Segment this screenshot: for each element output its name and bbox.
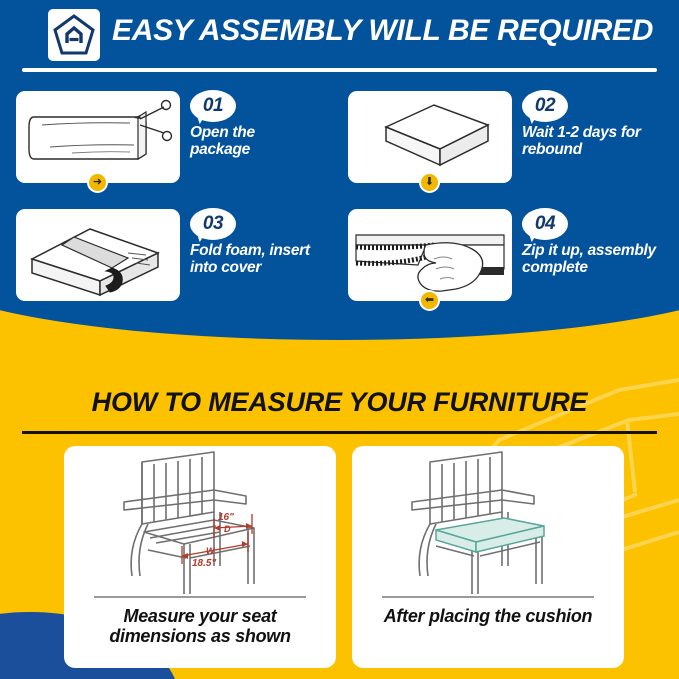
step-02-text: 02 Wait 1-2 days for rebound — [522, 90, 674, 158]
measure-card-dimensions: 16" D W 18.5" Measure your seat dimensio… — [64, 446, 336, 668]
flat-foam-cushion-icon — [348, 91, 512, 183]
rolled-package-with-scissors-icon — [16, 91, 180, 183]
step-number-badge-03: 03 — [190, 208, 236, 242]
step-02-label: Wait 1-2 days for rebound — [522, 125, 674, 158]
dimension-depth-value: 16" — [218, 512, 234, 523]
measure-cards: 16" D W 18.5" Measure your seat dimensio… — [0, 446, 679, 674]
step-card-04: ⬅ 04 Zip it up, assembly complete — [340, 206, 676, 316]
step-04-label: Zip it up, assembly complete — [522, 243, 674, 276]
foam-inserted-into-cover-icon — [16, 209, 180, 301]
dimension-width-value: 18.5" — [192, 558, 216, 569]
patio-chair-with-cushion-icon — [352, 446, 624, 598]
measure-card-2-caption: After placing the cushion — [352, 606, 624, 626]
step-01-label: Open the package — [190, 125, 342, 158]
arrow-down-icon: ⬇ — [419, 172, 440, 193]
card-divider — [94, 596, 306, 598]
page-title: EASY ASSEMBLY WILL BE REQUIRED — [112, 14, 653, 48]
measure-title-divider — [22, 431, 657, 434]
arrow-right-icon: ➜ — [87, 172, 108, 193]
hand-zipping-cushion-cover-icon — [348, 209, 512, 301]
step-number-badge-01: 01 — [190, 90, 236, 124]
measure-card-cushioned: After placing the cushion — [352, 446, 624, 668]
measure-card-1-caption: Measure your seat dimensions as shown — [64, 606, 336, 646]
header: EASY ASSEMBLY WILL BE REQUIRED — [0, 0, 679, 86]
step-01-text: 01 Open the package — [190, 90, 342, 158]
step-number-badge-04: 04 — [522, 208, 568, 242]
step-04-text: 04 Zip it up, assembly complete — [522, 208, 674, 276]
measure-section: HOW TO MEASURE YOUR FURNITURE — [0, 340, 679, 679]
house-pentagon-logo-icon — [48, 9, 100, 61]
step-03-label: Fold foam, insert into cover — [190, 243, 342, 276]
arrow-left-icon: ⬅ — [419, 290, 440, 311]
measure-section-title: HOW TO MEASURE YOUR FURNITURE — [0, 387, 679, 418]
header-divider — [22, 68, 657, 72]
patio-chair-with-dimension-arrows-icon: 16" D W 18.5" — [64, 446, 336, 598]
card-divider — [382, 596, 594, 598]
step-card-01: ➜ 01 Open the package — [8, 88, 344, 198]
dimension-depth-axis: D — [224, 524, 231, 534]
assembly-steps-grid: ➜ 01 Open the package — [0, 88, 679, 310]
step-03-text: 03 Fold foam, insert into cover — [190, 208, 342, 276]
step-card-02: ⬇ 02 Wait 1-2 days for rebound — [340, 88, 676, 198]
infographic-poster: EASY ASSEMBLY WILL BE REQUIRED — [0, 0, 679, 679]
step-card-03: 03 Fold foam, insert into cover — [8, 206, 344, 316]
step-number-badge-02: 02 — [522, 90, 568, 124]
